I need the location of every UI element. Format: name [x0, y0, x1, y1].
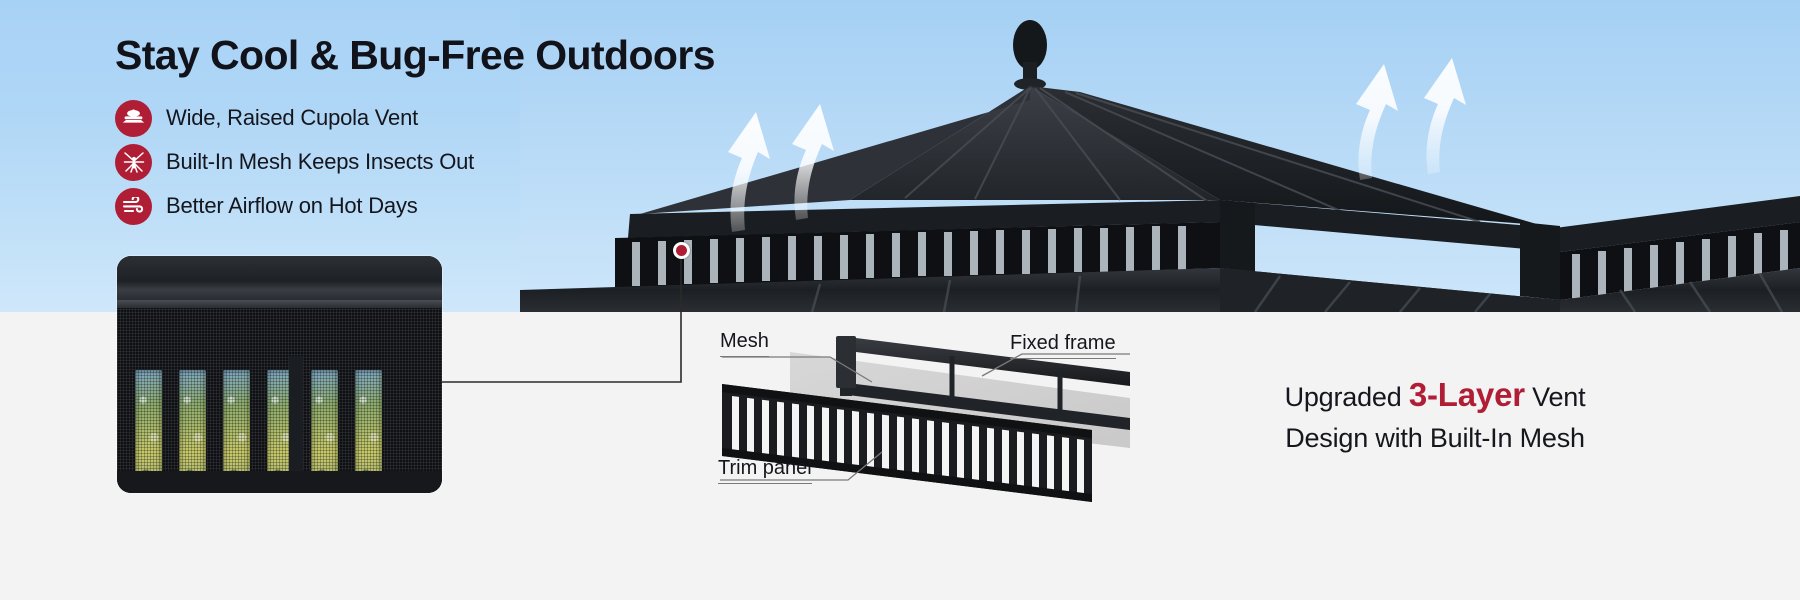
- feature-bullet-item: Better Airflow on Hot Days: [115, 188, 474, 224]
- upgrade-callout-text: Upgraded 3-Layer Vent Design with Built-…: [1155, 372, 1715, 457]
- vent-closeup-photo-inset: [117, 256, 442, 493]
- feature-bullet-label: Wide, Raised Cupola Vent: [166, 105, 418, 131]
- diagram-label-mesh: Mesh: [720, 330, 769, 357]
- upgrade-text-highlight: 3-Layer: [1409, 376, 1525, 413]
- feature-bullet-label: Built-In Mesh Keeps Insects Out: [166, 149, 474, 175]
- infographic-stage: Stay Cool & Bug-Free Outdoors Wide, Rais…: [0, 0, 1800, 600]
- feature-bullet-label: Better Airflow on Hot Days: [166, 193, 418, 219]
- vent-callout-dot: [673, 242, 690, 259]
- mosquito-icon: [115, 144, 152, 181]
- upgrade-text-line2: Design with Built-In Mesh: [1285, 423, 1585, 453]
- feature-bullet-item: Wide, Raised Cupola Vent: [115, 100, 474, 136]
- upgrade-text-prefix: Upgraded: [1285, 382, 1409, 412]
- inset-vent-body: [117, 308, 442, 493]
- diagram-label-trim-panel: Trim panel: [718, 457, 812, 484]
- feature-bullet-item: Built-In Mesh Keeps Insects Out: [115, 144, 474, 180]
- inset-bottom-rail: [117, 471, 442, 493]
- feature-bullet-list: Wide, Raised Cupola Vent B: [115, 100, 474, 232]
- cupola-vent-icon: [115, 100, 152, 137]
- page-title: Stay Cool & Bug-Free Outdoors: [115, 32, 715, 79]
- airflow-wind-icon: [115, 188, 152, 225]
- upgrade-text-suffix: Vent: [1525, 382, 1586, 412]
- inset-roof-edge: [117, 256, 442, 312]
- diagram-label-fixed-frame: Fixed frame: [1010, 332, 1116, 359]
